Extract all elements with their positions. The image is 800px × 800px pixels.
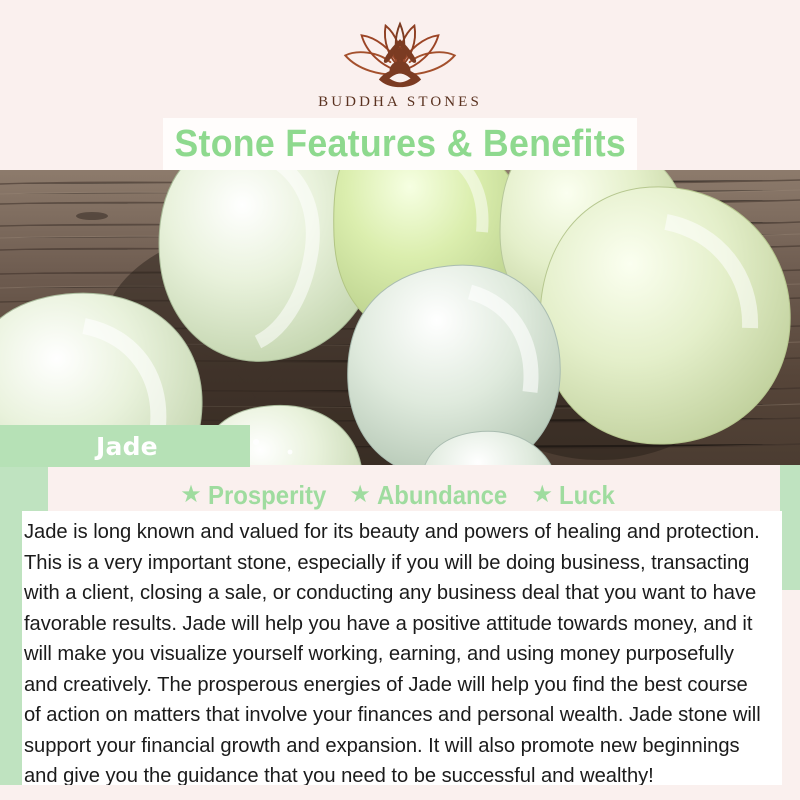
stone-name-bar: Jade bbox=[0, 425, 250, 467]
description-card: Jade is long known and valued for its be… bbox=[22, 511, 782, 800]
star-icon: ★ bbox=[349, 483, 371, 507]
benefit-item-prosperity: ★ Prosperity bbox=[180, 480, 336, 511]
stone-name-label: Jade bbox=[96, 432, 158, 461]
benefits-row: ★ Prosperity ★ Abundance ★ Luck bbox=[0, 479, 800, 511]
star-icon: ★ bbox=[180, 483, 202, 507]
description-text: Jade is long known and valued for its be… bbox=[24, 517, 769, 792]
lotus-meditation-figure-icon bbox=[325, 18, 475, 90]
page-title: Stone Features & Benefits bbox=[174, 123, 626, 166]
footer-strip bbox=[0, 785, 800, 800]
benefit-label: Luck bbox=[559, 480, 615, 511]
benefit-label: Prosperity bbox=[208, 480, 326, 511]
brand-logo: BUDDHA STONES bbox=[0, 18, 800, 111]
brand-name: BUDDHA STONES bbox=[318, 94, 482, 111]
star-icon: ★ bbox=[532, 483, 554, 507]
infographic-page: BUDDHA STONES Stone Features & Benefits bbox=[0, 0, 800, 800]
benefit-item-abundance: ★ Abundance bbox=[349, 480, 518, 511]
stone-photo bbox=[0, 170, 800, 465]
section-title-band: Stone Features & Benefits bbox=[163, 118, 637, 170]
benefit-item-luck: ★ Luck bbox=[532, 480, 620, 511]
benefit-label: Abundance bbox=[377, 480, 507, 511]
jade-stones-illustration bbox=[0, 170, 800, 465]
